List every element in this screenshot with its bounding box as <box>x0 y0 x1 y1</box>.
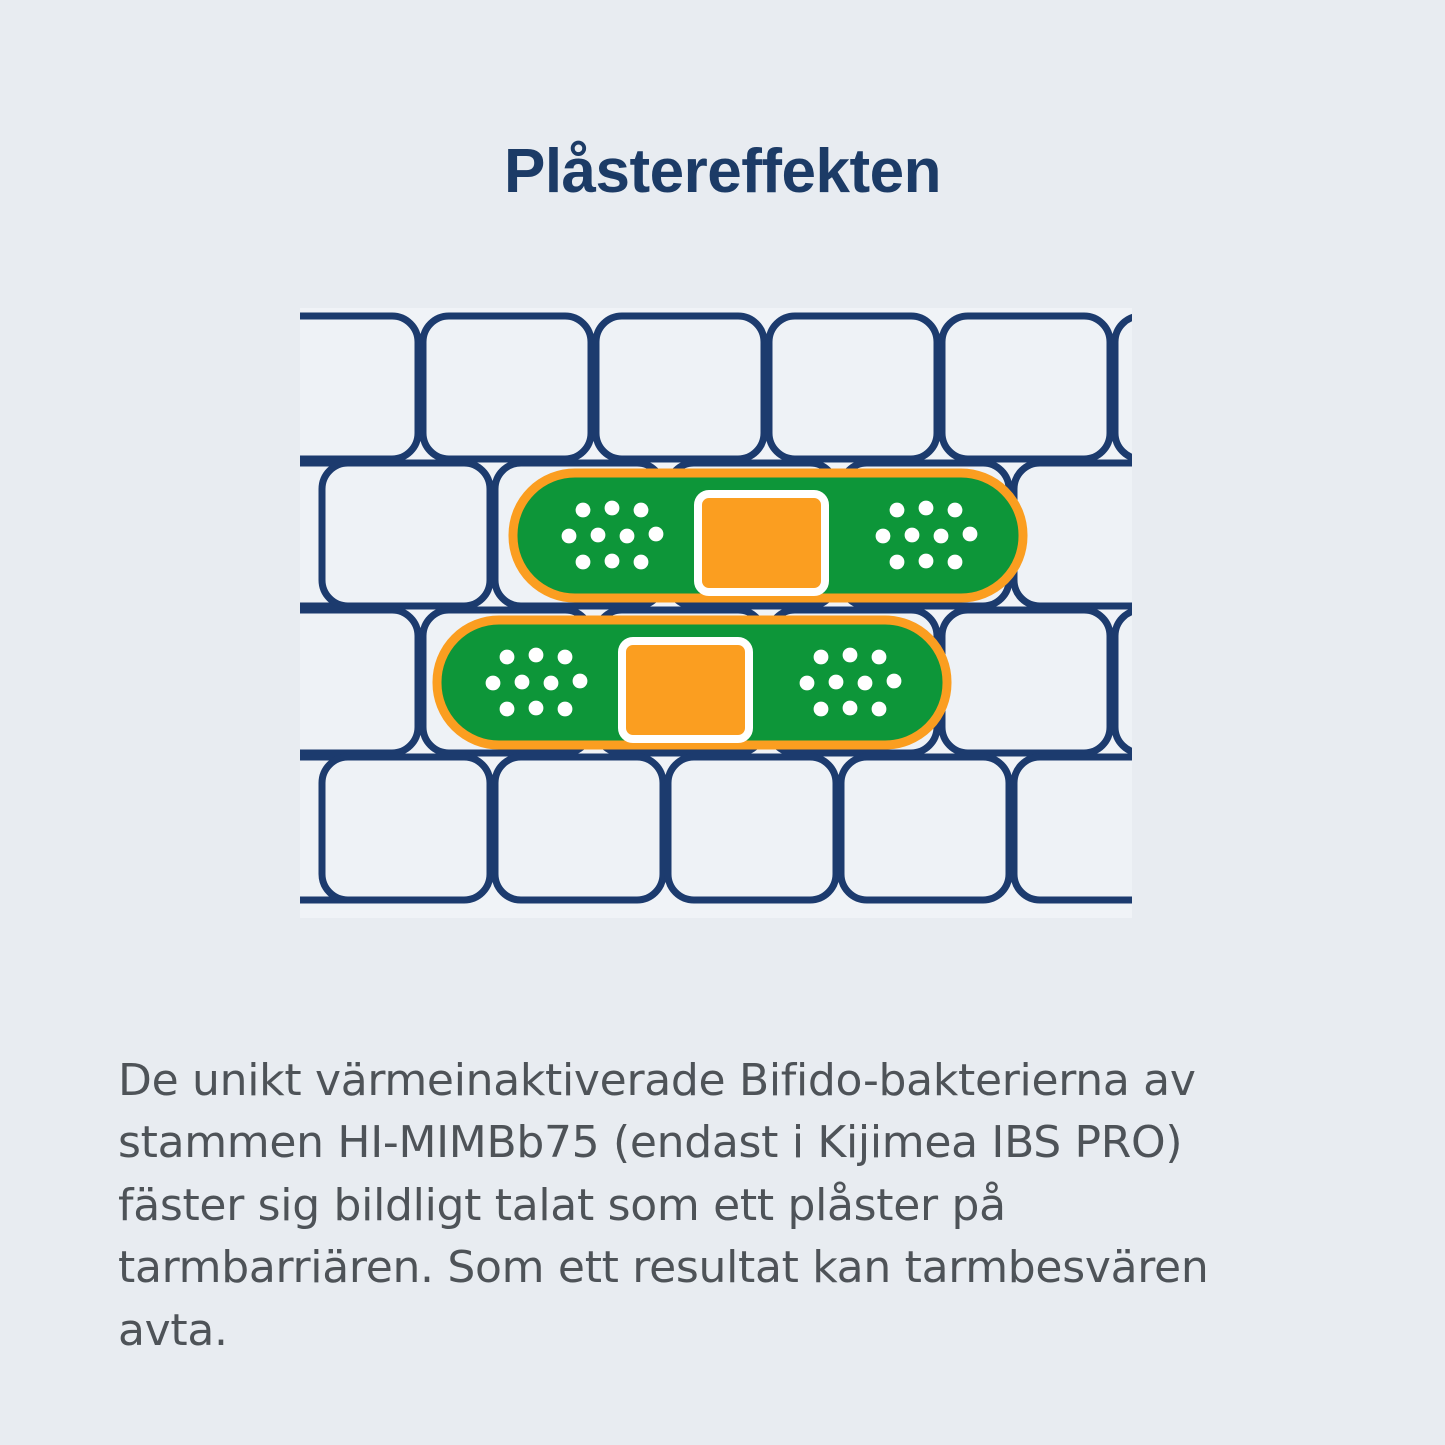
brick <box>596 316 764 459</box>
bacteria-dot <box>843 701 858 716</box>
bacteria-dot <box>919 554 934 569</box>
brick <box>495 757 663 900</box>
bandage-upper <box>513 473 1023 598</box>
page-title: Plåstereffekten <box>0 138 1445 206</box>
bacteria-dot <box>515 675 530 690</box>
brick <box>322 757 490 900</box>
brick <box>769 316 937 459</box>
bacteria-dot <box>948 503 963 518</box>
brick <box>1115 610 1132 753</box>
bacteria-dot <box>634 555 649 570</box>
description-paragraph: De unikt värmeinaktiverade Bifido-bakter… <box>118 1050 1248 1362</box>
bandage-center-pad <box>698 494 825 592</box>
bacteria-dot <box>573 674 588 689</box>
brick <box>942 316 1110 459</box>
brick <box>300 610 418 753</box>
bacteria-dot <box>890 503 905 518</box>
bacteria-dot <box>634 503 649 518</box>
bacteria-dot <box>544 676 559 691</box>
bacteria-dot <box>876 529 891 544</box>
bacteria-dot <box>591 528 606 543</box>
bacteria-dot <box>576 555 591 570</box>
brick <box>668 757 836 900</box>
bacteria-dot <box>500 650 515 665</box>
poster-page: Plåstereffekten <box>0 0 1445 1445</box>
bacteria-dot <box>558 702 573 717</box>
bacteria-dot <box>887 674 902 689</box>
bacteria-dot <box>605 554 620 569</box>
bacteria-dot <box>529 701 544 716</box>
brick <box>423 316 591 459</box>
bacteria-dot <box>649 527 664 542</box>
brick <box>841 757 1009 900</box>
bacteria-dot <box>890 555 905 570</box>
illustration-panel <box>300 308 1132 918</box>
bandage-center-pad <box>622 641 749 739</box>
bacteria-dot <box>919 501 934 516</box>
bandage-lower <box>437 620 947 745</box>
gut-barrier-illustration <box>300 308 1132 918</box>
brick <box>300 316 418 459</box>
brick <box>1115 316 1132 459</box>
bacteria-dot <box>872 650 887 665</box>
bacteria-dot <box>948 555 963 570</box>
brick <box>1014 463 1132 606</box>
brick <box>1014 757 1132 900</box>
bacteria-dot <box>963 527 978 542</box>
bacteria-dot <box>562 529 577 544</box>
bacteria-dot <box>872 702 887 717</box>
brick-wall <box>300 316 1132 900</box>
bacteria-dot <box>500 702 515 717</box>
bacteria-dot <box>814 650 829 665</box>
bacteria-dot <box>858 676 873 691</box>
bacteria-dot <box>486 676 501 691</box>
bacteria-dot <box>829 675 844 690</box>
bacteria-dot <box>814 702 829 717</box>
bacteria-dot <box>605 501 620 516</box>
bacteria-dot <box>800 676 815 691</box>
bacteria-dot <box>576 503 591 518</box>
brick <box>942 610 1110 753</box>
brick-row-4 <box>300 757 1132 900</box>
brick-row-1 <box>300 316 1132 459</box>
bacteria-dot <box>558 650 573 665</box>
brick <box>322 463 490 606</box>
bacteria-dot <box>620 529 635 544</box>
bacteria-dot <box>529 648 544 663</box>
bacteria-dot <box>905 528 920 543</box>
bacteria-dot <box>934 529 949 544</box>
bacteria-dot <box>843 648 858 663</box>
